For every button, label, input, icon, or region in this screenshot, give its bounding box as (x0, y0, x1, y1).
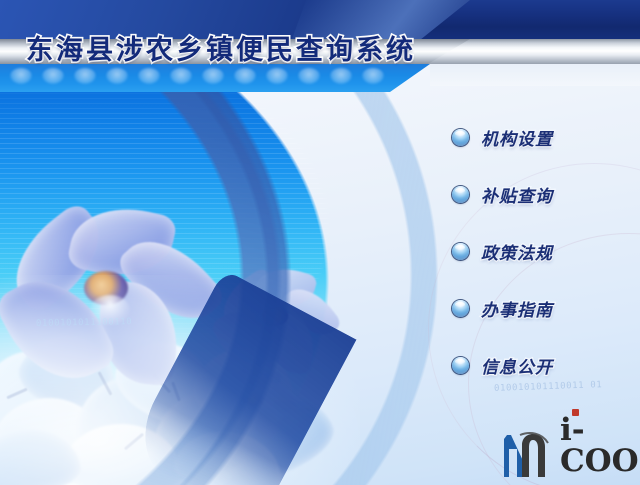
logo-mark-icon (500, 429, 562, 481)
blue-sphere-bullet-icon (452, 300, 469, 317)
menu-item-label: 政策法规 (481, 239, 553, 264)
header-right-fill (430, 64, 640, 86)
menu-item-service-guide[interactable]: 办事指南 (452, 293, 632, 323)
menu-item-label: 补贴查询 (481, 182, 553, 207)
blue-sphere-bullet-icon (452, 357, 469, 374)
menu-item-label: 办事指南 (481, 296, 553, 321)
logo-wordmark: i-COO (560, 415, 640, 477)
logo-wordmark-text: i-COO (560, 412, 639, 479)
menu-item-label: 机构设置 (481, 125, 553, 150)
menu-item-organization[interactable]: 机构设置 (452, 122, 632, 152)
page-title: 东海县涉农乡镇便民查询系统 (26, 28, 416, 67)
application-window: 010010101110011 01 0100101011100110 东海县涉… (0, 0, 640, 485)
main-menu: 机构设置 补贴查询 政策法规 办事指南 信息公开 (452, 122, 632, 407)
menu-item-policy-regulations[interactable]: 政策法规 (452, 236, 632, 266)
header-bubble-strip (0, 64, 430, 92)
logo-accent-dot-icon (572, 409, 579, 416)
blue-sphere-bullet-icon (452, 186, 469, 203)
menu-item-label: 信息公开 (481, 353, 553, 378)
menu-item-subsidy-query[interactable]: 补贴查询 (452, 179, 632, 209)
brand-logo: i-COO (500, 415, 640, 481)
blue-sphere-bullet-icon (452, 129, 469, 146)
menu-item-information-disclosure[interactable]: 信息公开 (452, 350, 632, 380)
blue-sphere-bullet-icon (452, 243, 469, 260)
